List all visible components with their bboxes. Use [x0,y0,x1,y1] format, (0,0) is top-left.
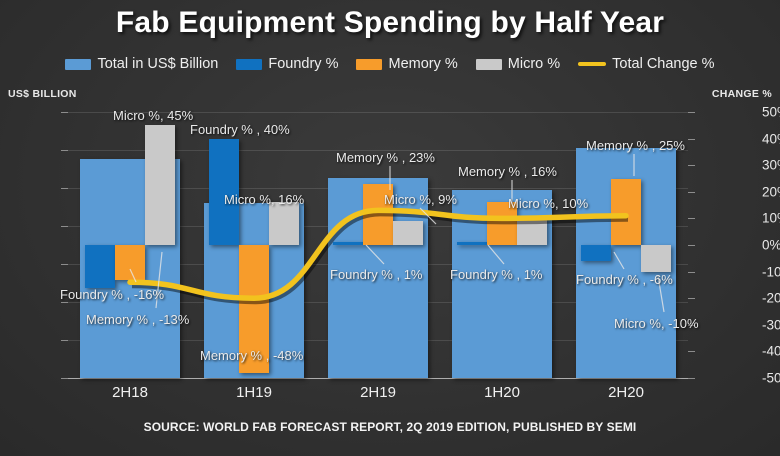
right-tickmark [688,378,695,379]
right-axis-caption: CHANGE % [712,88,772,100]
x-axis-label-2H18: 2H18 [112,384,148,401]
left-tickmark [61,340,68,341]
data-label-0: Micro %, 45% [113,108,193,123]
total-change-line-shadow [132,213,628,301]
legend-item-3[interactable]: Micro % [476,56,560,72]
data-label-2: Memory % , -13% [86,312,189,327]
left-tickmark [61,226,68,227]
legend-label: Total in US$ Billion [97,56,218,72]
right-axis-tick-label: -50% [762,371,780,386]
legend-swatch-total [65,59,91,70]
right-tickmark [688,165,695,166]
plot-area: 3530252015105050%40%30%20%10%0%-10%-20%-… [68,112,688,378]
legend-swatch-micro [476,59,502,70]
legend-item-0[interactable]: Total in US$ Billion [65,56,218,72]
chart-container: Fab Equipment Spending by Half Year Tota… [0,0,780,456]
x-axis-label-1H19: 1H19 [236,384,272,401]
legend-item-2[interactable]: Memory % [356,56,457,72]
chart-legend: Total in US$ BillionFoundry %Memory %Mic… [0,56,780,72]
legend-swatch-memory [356,59,382,70]
right-axis-tick-label: 10% [762,211,780,226]
leader-line-13 [614,252,624,269]
right-tickmark [688,245,695,246]
legend-item-1[interactable]: Foundry % [236,56,338,72]
legend-swatch-foundry [236,59,262,70]
left-tickmark [61,150,68,151]
left-tickmark [61,264,68,265]
x-axis-label-2H19: 2H19 [360,384,396,401]
data-label-11: Foundry % , 1% [450,267,543,282]
right-axis-tick-label: -20% [762,291,780,306]
right-axis-tick-label: 50% [762,105,780,120]
left-tickmark [61,302,68,303]
x-axis-label-1H20: 1H20 [484,384,520,401]
right-tickmark [688,192,695,193]
right-tickmark [688,139,695,140]
leader-line-8 [366,245,384,264]
right-tickmark [688,218,695,219]
right-tickmark [688,112,695,113]
x-axis-label-2H20: 2H20 [608,384,644,401]
right-tickmark [688,351,695,352]
right-tickmark [688,298,695,299]
legend-label: Micro % [508,56,560,72]
data-label-7: Micro %, 9% [384,192,457,207]
right-axis-tick-label: -30% [762,317,780,332]
legend-label: Memory % [388,56,457,72]
right-axis-tick-label: 30% [762,158,780,173]
right-axis-tick-label: 20% [762,184,780,199]
data-label-5: Memory % , -48% [200,348,303,363]
data-label-1: Foundry % , -16% [60,287,164,302]
right-axis-tick-label: 0% [762,238,780,253]
right-axis-tick-label: -40% [762,344,780,359]
data-label-14: Micro %, -10% [614,316,699,331]
data-label-9: Memory % , 16% [458,164,557,179]
left-tickmark [61,378,68,379]
legend-label: Total Change % [612,56,714,72]
right-axis-tick-label: 40% [762,131,780,146]
data-label-13: Foundry % , -6% [576,272,673,287]
right-axis-tick-label: -10% [762,264,780,279]
data-label-4: Micro %, 16% [224,192,304,207]
data-label-12: Memory % , 25% [586,138,685,153]
x-axis-line [68,378,688,379]
left-tickmark [61,188,68,189]
source-note: SOURCE: WORLD FAB FORECAST REPORT, 2Q 20… [0,420,780,434]
data-label-6: Memory % , 23% [336,150,435,165]
legend-item-4[interactable]: Total Change % [578,56,714,72]
right-tickmark [688,272,695,273]
data-label-10: Micro %, 10% [508,196,588,211]
data-label-3: Foundry % , 40% [190,122,290,137]
chart-title: Fab Equipment Spending by Half Year [0,6,780,40]
leader-line-11 [488,245,504,264]
left-axis-caption: US$ BILLION [8,88,77,100]
left-tickmark [61,112,68,113]
legend-label: Foundry % [268,56,338,72]
data-label-8: Foundry % , 1% [330,267,423,282]
legend-line-total-change [578,62,606,66]
